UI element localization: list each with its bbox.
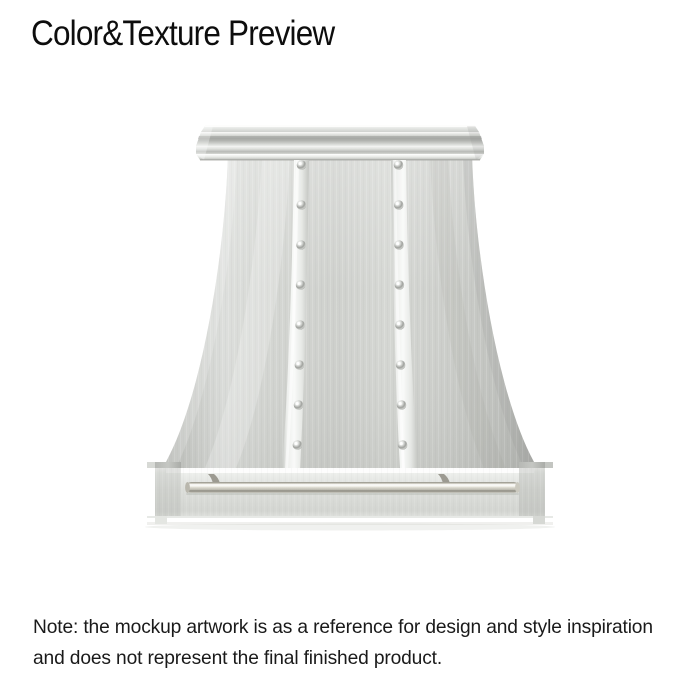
product-mockup-image	[0, 90, 700, 560]
rivet	[297, 160, 307, 170]
rivet	[295, 360, 305, 370]
rivet	[397, 400, 407, 410]
rivet	[296, 280, 306, 290]
rivet	[395, 320, 405, 330]
crown-molding	[196, 125, 484, 161]
disclaimer-note: Note: the mockup artwork is as a referen…	[33, 612, 663, 674]
rivet	[395, 280, 405, 290]
rivet	[297, 200, 307, 210]
rivet	[398, 440, 408, 450]
drop-shadow	[145, 524, 555, 531]
hood-body	[160, 145, 540, 475]
preview-page: Color&Texture Preview	[0, 0, 700, 700]
rivet	[294, 400, 304, 410]
rivet	[295, 320, 305, 330]
range-hood-illustration	[0, 90, 700, 560]
rivet	[394, 160, 404, 170]
rivet	[293, 440, 303, 450]
rivet	[394, 240, 404, 250]
page-title: Color&Texture Preview	[31, 14, 334, 54]
rivet	[296, 240, 306, 250]
rivet	[396, 360, 406, 370]
rivet	[394, 200, 404, 210]
